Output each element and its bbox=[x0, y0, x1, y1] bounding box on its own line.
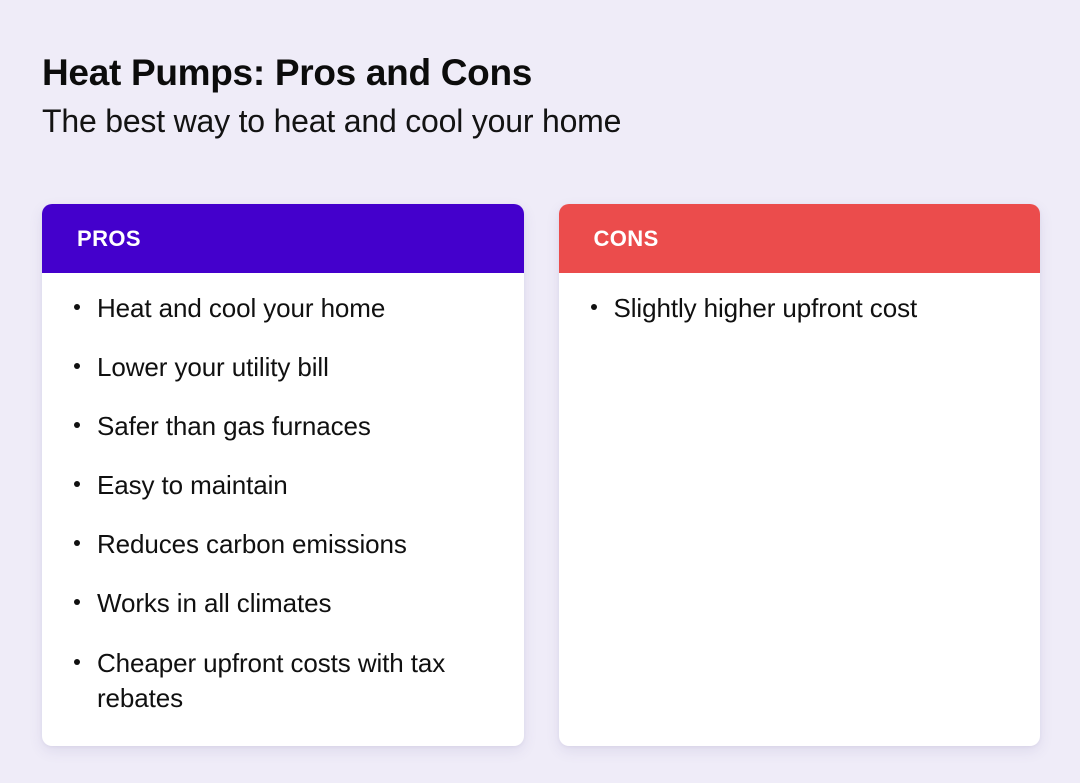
page-title: Heat Pumps: Pros and Cons bbox=[42, 52, 1022, 93]
header: Heat Pumps: Pros and Cons The best way t… bbox=[42, 52, 1022, 141]
bullet-dot-icon bbox=[74, 599, 80, 605]
pros-card: PROS Heat and cool your home Lower your … bbox=[42, 204, 524, 746]
list-item: Lower your utility bill bbox=[72, 350, 494, 385]
list-item: Reduces carbon emissions bbox=[72, 527, 494, 562]
list-item-label: Slightly higher upfront cost bbox=[614, 293, 918, 323]
bullet-dot-icon bbox=[74, 659, 80, 665]
cons-card-title: CONS bbox=[594, 226, 659, 252]
list-item: Works in all climates bbox=[72, 586, 494, 621]
list-item-label: Works in all climates bbox=[97, 588, 331, 618]
list-item-label: Easy to maintain bbox=[97, 470, 288, 500]
list-item: Heat and cool your home bbox=[72, 291, 494, 326]
page-subtitle: The best way to heat and cool your home bbox=[42, 103, 1022, 140]
bullet-dot-icon bbox=[591, 304, 597, 310]
cons-list: Slightly higher upfront cost bbox=[589, 291, 1011, 326]
list-item: Slightly higher upfront cost bbox=[589, 291, 1011, 326]
list-item-label: Reduces carbon emissions bbox=[97, 529, 407, 559]
list-item-label: Lower your utility bill bbox=[97, 352, 329, 382]
bullet-dot-icon bbox=[74, 422, 80, 428]
list-item: Cheaper upfront costs with tax rebates bbox=[72, 646, 494, 716]
list-item: Safer than gas furnaces bbox=[72, 409, 494, 444]
pros-card-header: PROS bbox=[42, 204, 524, 273]
cons-card-header: CONS bbox=[559, 204, 1041, 273]
list-item-label: Heat and cool your home bbox=[97, 293, 385, 323]
list-item: Easy to maintain bbox=[72, 468, 494, 503]
bullet-dot-icon bbox=[74, 540, 80, 546]
comparison-cards: PROS Heat and cool your home Lower your … bbox=[42, 204, 1040, 746]
bullet-dot-icon bbox=[74, 304, 80, 310]
pros-card-body: Heat and cool your home Lower your utili… bbox=[42, 273, 524, 746]
bullet-dot-icon bbox=[74, 481, 80, 487]
pros-card-title: PROS bbox=[77, 226, 141, 252]
pros-cons-infographic: Heat Pumps: Pros and Cons The best way t… bbox=[0, 0, 1080, 783]
bullet-dot-icon bbox=[74, 363, 80, 369]
cons-card: CONS Slightly higher upfront cost bbox=[559, 204, 1041, 746]
list-item-label: Cheaper upfront costs with tax rebates bbox=[97, 648, 445, 713]
list-item-label: Safer than gas furnaces bbox=[97, 411, 371, 441]
pros-list: Heat and cool your home Lower your utili… bbox=[72, 291, 494, 716]
cons-card-body: Slightly higher upfront cost bbox=[559, 273, 1041, 746]
